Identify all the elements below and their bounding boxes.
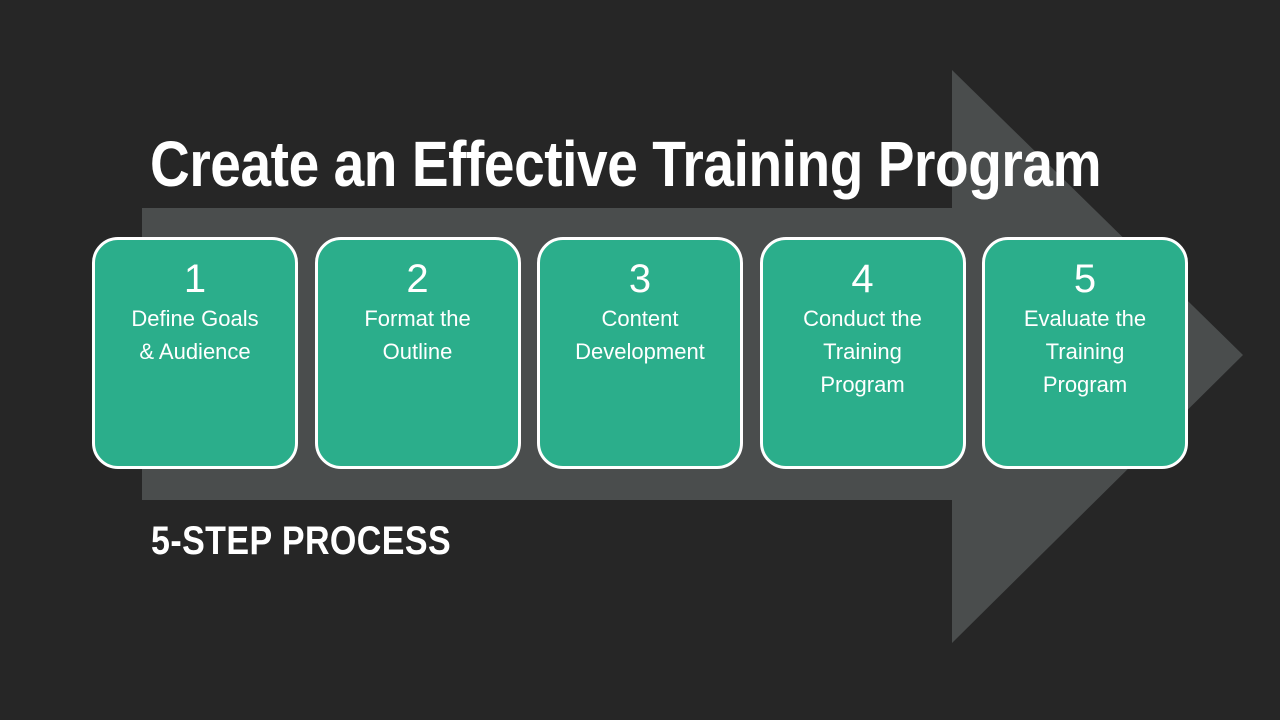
step-card-4[interactable]: 4 Conduct the Training Program [760,237,966,469]
step-label: Define Goals & Audience [123,302,266,368]
footer-caption: 5-STEP PROCESS [151,517,451,565]
step-card-3[interactable]: 3 Content Development [537,237,743,469]
step-card-2[interactable]: 2 Format the Outline [315,237,521,469]
step-card-5[interactable]: 5 Evaluate the Training Program [982,237,1188,469]
page-title: Create an Effective Training Program [150,129,1101,199]
step-number: 3 [629,256,651,302]
step-label: Evaluate the Training Program [1016,302,1154,401]
step-number: 2 [406,256,428,302]
step-number: 5 [1074,256,1096,302]
step-number: 4 [851,256,873,302]
step-label: Format the Outline [356,302,478,368]
slide-canvas: Create an Effective Training Program 1 D… [0,0,1280,720]
step-label: Conduct the Training Program [795,302,930,401]
step-label: Content Development [567,302,713,368]
step-number: 1 [184,256,206,302]
step-card-1[interactable]: 1 Define Goals & Audience [92,237,298,469]
process-steps-row: 1 Define Goals & Audience 2 Format the O… [92,237,1188,469]
